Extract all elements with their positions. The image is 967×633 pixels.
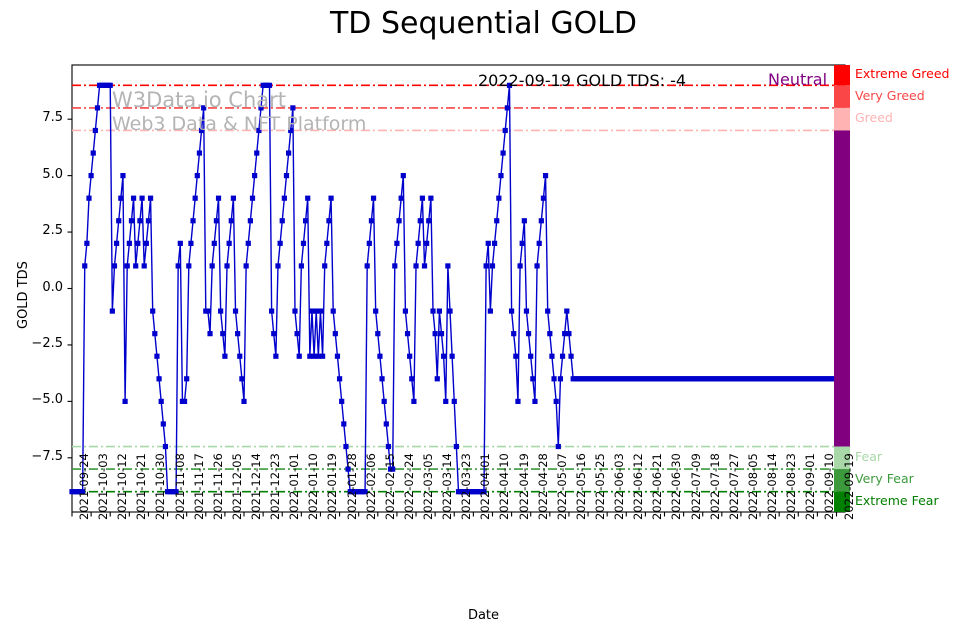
data-point[interactable] xyxy=(86,196,91,201)
data-point[interactable] xyxy=(176,263,181,268)
data-point[interactable] xyxy=(407,354,412,359)
data-point[interactable] xyxy=(503,128,508,133)
data-point[interactable] xyxy=(403,308,408,313)
data-point[interactable] xyxy=(420,196,425,201)
data-point[interactable] xyxy=(216,196,221,201)
xtick-label: 2022-09-01 xyxy=(803,453,817,520)
data-point[interactable] xyxy=(486,241,491,246)
data-point[interactable] xyxy=(568,354,573,359)
data-point[interactable] xyxy=(197,150,202,155)
data-point[interactable] xyxy=(233,308,238,313)
xtick-label: 2022-01-19 xyxy=(325,453,339,520)
xtick-label: 2021-10-12 xyxy=(115,453,129,520)
data-point[interactable] xyxy=(401,173,406,178)
zone-label-greed: Greed xyxy=(855,110,893,125)
ytick-label: −5.0 xyxy=(0,392,63,407)
sentiment-bar-very-greed xyxy=(834,85,850,108)
data-point[interactable] xyxy=(282,196,287,201)
xtick-label: 2022-04-19 xyxy=(517,453,531,520)
data-point[interactable] xyxy=(292,308,297,313)
data-point[interactable] xyxy=(399,196,404,201)
data-point[interactable] xyxy=(528,354,533,359)
data-point[interactable] xyxy=(522,218,527,223)
data-point[interactable] xyxy=(430,308,435,313)
data-point[interactable] xyxy=(382,399,387,404)
data-point[interactable] xyxy=(515,399,520,404)
data-point[interactable] xyxy=(210,263,215,268)
data-point[interactable] xyxy=(125,263,130,268)
data-point[interactable] xyxy=(428,196,433,201)
data-point[interactable] xyxy=(505,105,510,110)
data-point[interactable] xyxy=(365,263,370,268)
xtick-label: 2022-04-01 xyxy=(478,453,492,520)
xtick-label: 2021-11-17 xyxy=(192,453,206,520)
xtick-label: 2021-12-14 xyxy=(249,453,263,520)
data-point[interactable] xyxy=(244,263,249,268)
xtick-label: 2022-02-06 xyxy=(364,453,378,520)
data-point[interactable] xyxy=(142,263,147,268)
xtick-label: 2022-05-25 xyxy=(593,453,607,520)
data-point[interactable] xyxy=(490,263,495,268)
data-point[interactable] xyxy=(517,263,522,268)
data-point[interactable] xyxy=(373,308,378,313)
data-point[interactable] xyxy=(496,196,501,201)
data-point[interactable] xyxy=(250,196,255,201)
data-point[interactable] xyxy=(161,421,166,426)
data-point[interactable] xyxy=(224,263,229,268)
data-point[interactable] xyxy=(386,444,391,449)
data-point[interactable] xyxy=(154,354,159,359)
data-point[interactable] xyxy=(303,218,308,223)
data-point[interactable] xyxy=(148,196,153,201)
zone-label-very-fear: Very Fear xyxy=(855,471,914,486)
data-point[interactable] xyxy=(333,331,338,336)
data-point[interactable] xyxy=(494,218,499,223)
data-point[interactable] xyxy=(116,218,121,223)
xtick-label: 2022-01-10 xyxy=(306,453,320,520)
data-point[interactable] xyxy=(278,241,283,246)
data-point[interactable] xyxy=(163,444,168,449)
data-point[interactable] xyxy=(530,376,535,381)
data-point[interactable] xyxy=(271,331,276,336)
data-point[interactable] xyxy=(269,308,274,313)
xtick-label: 2022-09-10 xyxy=(822,453,836,520)
data-point[interactable] xyxy=(526,331,531,336)
data-point[interactable] xyxy=(564,308,569,313)
data-point[interactable] xyxy=(413,263,418,268)
xtick-label: 2021-12-23 xyxy=(268,453,282,520)
data-point[interactable] xyxy=(144,241,149,246)
xtick-label: 2022-07-18 xyxy=(708,453,722,520)
data-point[interactable] xyxy=(560,354,565,359)
data-point[interactable] xyxy=(254,150,259,155)
data-point[interactable] xyxy=(424,241,429,246)
data-point[interactable] xyxy=(199,128,204,133)
xtick-label: 2022-05-07 xyxy=(555,453,569,520)
data-point[interactable] xyxy=(290,105,295,110)
data-point[interactable] xyxy=(416,241,421,246)
data-point[interactable] xyxy=(227,241,232,246)
data-point[interactable] xyxy=(554,399,559,404)
data-point[interactable] xyxy=(114,241,119,246)
data-point[interactable] xyxy=(95,105,100,110)
data-point[interactable] xyxy=(377,354,382,359)
data-point[interactable] xyxy=(532,399,537,404)
data-point[interactable] xyxy=(511,331,516,336)
data-point[interactable] xyxy=(394,241,399,246)
ytick-label: 2.5 xyxy=(0,223,63,238)
data-point[interactable] xyxy=(433,331,438,336)
xtick-label: 2021-10-30 xyxy=(153,453,167,520)
data-point[interactable] xyxy=(441,354,446,359)
data-point[interactable] xyxy=(426,218,431,223)
data-point[interactable] xyxy=(212,241,217,246)
current-sentiment-label: Neutral xyxy=(768,70,827,89)
data-point[interactable] xyxy=(537,241,542,246)
ytick-label: 7.5 xyxy=(0,110,63,125)
data-point[interactable] xyxy=(139,196,144,201)
data-point[interactable] xyxy=(222,354,227,359)
data-point[interactable] xyxy=(89,173,94,178)
data-point[interactable] xyxy=(84,241,89,246)
data-point[interactable] xyxy=(320,354,325,359)
xtick-label: 2022-04-28 xyxy=(536,453,550,520)
data-point[interactable] xyxy=(239,376,244,381)
xtick-label: 2022-07-09 xyxy=(689,453,703,520)
data-point[interactable] xyxy=(135,241,140,246)
data-point[interactable] xyxy=(182,399,187,404)
data-point[interactable] xyxy=(547,331,552,336)
data-point[interactable] xyxy=(156,376,161,381)
data-point[interactable] xyxy=(229,218,234,223)
data-point[interactable] xyxy=(120,173,125,178)
ytick-label: 0.0 xyxy=(0,280,63,295)
data-point[interactable] xyxy=(558,376,563,381)
data-point[interactable] xyxy=(369,218,374,223)
y-axis-title: GOLD TDS xyxy=(16,261,31,329)
data-point[interactable] xyxy=(498,173,503,178)
data-point[interactable] xyxy=(118,196,123,201)
data-point[interactable] xyxy=(205,308,210,313)
data-point[interactable] xyxy=(235,331,240,336)
data-point[interactable] xyxy=(258,105,263,110)
xtick-label: 2022-06-21 xyxy=(650,453,664,520)
sentiment-bar-extreme-greed xyxy=(834,65,850,85)
xtick-label: 2022-04-10 xyxy=(497,453,511,520)
xtick-label: 2021-12-05 xyxy=(230,453,244,520)
data-point[interactable] xyxy=(122,399,127,404)
data-point[interactable] xyxy=(146,218,151,223)
data-point[interactable] xyxy=(284,173,289,178)
data-point[interactable] xyxy=(328,196,333,201)
ytick-label: 5.0 xyxy=(0,167,63,182)
data-point[interactable] xyxy=(112,263,117,268)
data-point[interactable] xyxy=(341,421,346,426)
data-point[interactable] xyxy=(447,308,452,313)
data-point[interactable] xyxy=(301,241,306,246)
data-point[interactable] xyxy=(501,150,506,155)
data-point[interactable] xyxy=(326,218,331,223)
data-point[interactable] xyxy=(129,218,134,223)
data-point[interactable] xyxy=(152,331,157,336)
data-point[interactable] xyxy=(392,263,397,268)
data-point[interactable] xyxy=(534,263,539,268)
data-point[interactable] xyxy=(127,241,132,246)
data-point[interactable] xyxy=(418,218,423,223)
data-point[interactable] xyxy=(396,218,401,223)
data-point[interactable] xyxy=(280,218,285,223)
xtick-label: 2022-07-27 xyxy=(727,453,741,520)
data-point[interactable] xyxy=(367,241,372,246)
data-point[interactable] xyxy=(437,308,442,313)
data-point[interactable] xyxy=(541,196,546,201)
data-point[interactable] xyxy=(551,376,556,381)
data-point[interactable] xyxy=(201,105,206,110)
data-point[interactable] xyxy=(343,444,348,449)
xtick-label: 2021-09-24 xyxy=(77,453,91,520)
data-point[interactable] xyxy=(452,399,457,404)
data-point[interactable] xyxy=(297,354,302,359)
xtick-label: 2022-03-05 xyxy=(421,453,435,520)
data-point[interactable] xyxy=(186,263,191,268)
data-point[interactable] xyxy=(159,399,164,404)
data-point[interactable] xyxy=(286,150,291,155)
data-point[interactable] xyxy=(237,354,242,359)
data-point[interactable] xyxy=(450,354,455,359)
data-point[interactable] xyxy=(108,83,113,88)
data-point[interactable] xyxy=(231,196,236,201)
xtick-label: 2021-11-08 xyxy=(173,453,187,520)
data-point[interactable] xyxy=(443,399,448,404)
data-point[interactable] xyxy=(379,376,384,381)
data-point[interactable] xyxy=(445,263,450,268)
xtick-label: 2022-01-01 xyxy=(287,453,301,520)
data-point[interactable] xyxy=(110,308,115,313)
data-point[interactable] xyxy=(520,241,525,246)
data-point[interactable] xyxy=(190,218,195,223)
data-point[interactable] xyxy=(252,173,257,178)
data-point[interactable] xyxy=(275,263,280,268)
x-axis-title: Date xyxy=(0,608,967,623)
data-point[interactable] xyxy=(384,421,389,426)
data-point[interactable] xyxy=(288,128,293,133)
data-point[interactable] xyxy=(195,173,200,178)
data-point[interactable] xyxy=(150,308,155,313)
data-point[interactable] xyxy=(324,241,329,246)
xtick-label: 2022-06-12 xyxy=(631,453,645,520)
data-point[interactable] xyxy=(524,308,529,313)
xtick-label: 2022-06-03 xyxy=(612,453,626,520)
data-point[interactable] xyxy=(375,331,380,336)
data-point[interactable] xyxy=(488,308,493,313)
data-point[interactable] xyxy=(539,218,544,223)
data-point[interactable] xyxy=(218,308,223,313)
xtick-label: 2022-03-14 xyxy=(440,453,454,520)
chart-canvas xyxy=(0,0,967,633)
xtick-label: 2022-09-19 xyxy=(842,453,856,520)
data-point[interactable] xyxy=(137,218,142,223)
xtick-label: 2022-02-24 xyxy=(402,453,416,520)
data-point[interactable] xyxy=(484,263,489,268)
xtick-label: 2022-03-23 xyxy=(459,453,473,520)
xtick-label: 2022-05-16 xyxy=(574,453,588,520)
data-point[interactable] xyxy=(93,128,98,133)
data-point[interactable] xyxy=(248,218,253,223)
data-point[interactable] xyxy=(549,354,554,359)
data-point[interactable] xyxy=(256,128,261,133)
xtick-label: 2022-08-23 xyxy=(784,453,798,520)
data-point[interactable] xyxy=(178,241,183,246)
data-point[interactable] xyxy=(454,444,459,449)
data-point[interactable] xyxy=(273,354,278,359)
zone-label-extreme-fear: Extreme Fear xyxy=(855,493,939,508)
data-point[interactable] xyxy=(295,331,300,336)
data-point[interactable] xyxy=(409,376,414,381)
data-point[interactable] xyxy=(322,263,327,268)
data-point[interactable] xyxy=(422,263,427,268)
data-point[interactable] xyxy=(331,308,336,313)
data-point[interactable] xyxy=(492,241,497,246)
data-point[interactable] xyxy=(435,376,440,381)
data-point[interactable] xyxy=(566,331,571,336)
xtick-label: 2022-08-05 xyxy=(746,453,760,520)
xtick-label: 2021-10-21 xyxy=(134,453,148,520)
data-point[interactable] xyxy=(184,376,189,381)
xtick-label: 2022-06-30 xyxy=(669,453,683,520)
data-point[interactable] xyxy=(339,399,344,404)
data-point[interactable] xyxy=(131,196,136,201)
data-point[interactable] xyxy=(513,354,518,359)
ytick-label: −2.5 xyxy=(0,336,63,351)
sentiment-bar-neutral xyxy=(834,130,850,446)
data-point[interactable] xyxy=(545,308,550,313)
data-point[interactable] xyxy=(267,83,272,88)
data-point[interactable] xyxy=(241,399,246,404)
data-point[interactable] xyxy=(509,308,514,313)
data-point[interactable] xyxy=(405,331,410,336)
data-point[interactable] xyxy=(91,150,96,155)
zone-label-extreme-greed: Extreme Greed xyxy=(855,66,949,81)
data-point[interactable] xyxy=(305,196,310,201)
xtick-label: 2022-02-15 xyxy=(383,453,397,520)
xtick-label: 2021-10-03 xyxy=(96,453,110,520)
sentiment-bar-greed xyxy=(834,108,850,131)
data-point[interactable] xyxy=(439,331,444,336)
data-point[interactable] xyxy=(337,376,342,381)
xtick-label: 2021-11-26 xyxy=(211,453,225,520)
data-point[interactable] xyxy=(246,241,251,246)
data-point[interactable] xyxy=(318,308,323,313)
data-point[interactable] xyxy=(411,399,416,404)
data-point[interactable] xyxy=(220,331,225,336)
data-point[interactable] xyxy=(207,331,212,336)
data-point[interactable] xyxy=(188,241,193,246)
data-point[interactable] xyxy=(193,196,198,201)
data-point[interactable] xyxy=(335,354,340,359)
data-point[interactable] xyxy=(133,263,138,268)
xtick-label: 2022-01-28 xyxy=(345,453,359,520)
current-value-annotation: 2022-09-19 GOLD TDS: -4 xyxy=(478,71,686,90)
zone-label-fear: Fear xyxy=(855,449,882,464)
data-point[interactable] xyxy=(556,444,561,449)
data-point[interactable] xyxy=(214,218,219,223)
xtick-label: 2022-08-14 xyxy=(765,453,779,520)
zone-label-very-greed: Very Greed xyxy=(855,88,925,103)
data-point[interactable] xyxy=(543,173,548,178)
data-point[interactable] xyxy=(299,263,304,268)
data-point[interactable] xyxy=(82,263,87,268)
ytick-label: −7.5 xyxy=(0,449,63,464)
data-point[interactable] xyxy=(371,196,376,201)
